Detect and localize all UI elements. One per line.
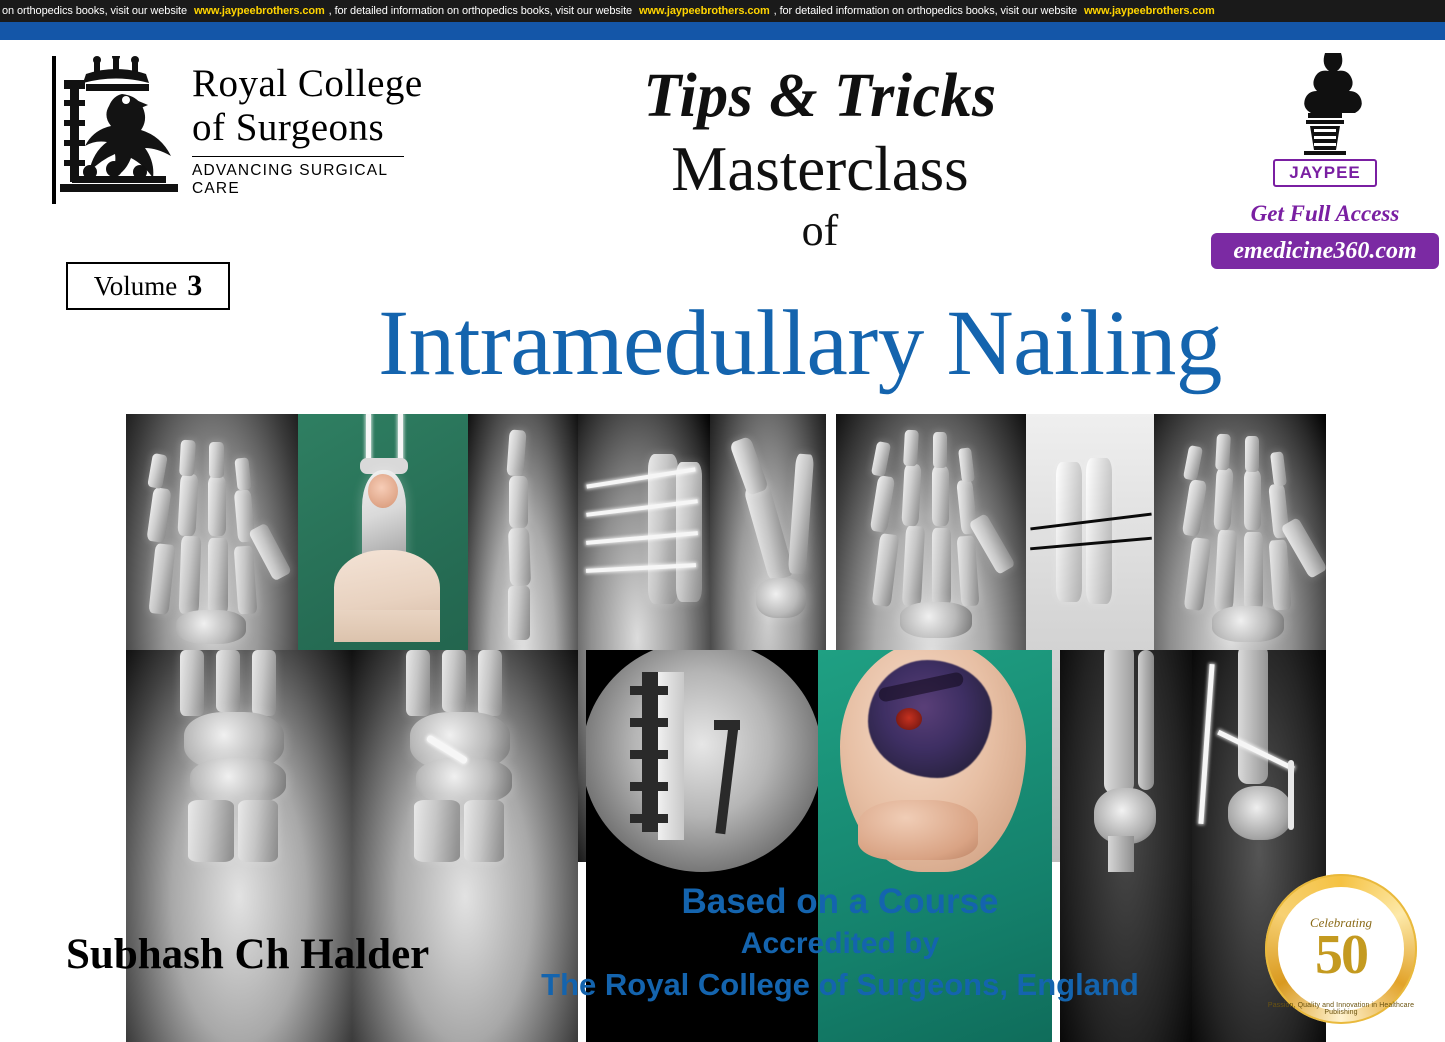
seal-inner: Celebrating 50 (1278, 887, 1404, 1011)
image-collage (126, 414, 1326, 862)
seal-tagline: Passion, Quality and Innovation in Healt… (1265, 1002, 1417, 1016)
promo-url-2[interactable]: www.jaypeebrothers.com (637, 5, 772, 17)
promo-strip: on orthopedics books, visit our website … (0, 0, 1445, 22)
title-of: of (460, 206, 1180, 256)
title-block: Tips & Tricks Masterclass of (460, 62, 1180, 256)
rcs-divider (192, 156, 404, 157)
rcs-line-2: of Surgeons (192, 106, 432, 150)
title-tips-tricks: Tips & Tricks (460, 62, 1180, 130)
emedicine-link[interactable]: emedicine360.com (1211, 233, 1439, 269)
anniversary-seal-icon: Celebrating 50 Passion, Quality and Inno… (1265, 874, 1417, 1024)
book-cover: on orthopedics books, visit our website … (0, 0, 1445, 1042)
rcs-tagline: ADVANCING SURGICAL CARE (192, 162, 432, 198)
author-name: Subhash Ch Halder (66, 930, 429, 979)
course-line-3: The Royal College of Surgeons, England (470, 964, 1210, 1006)
promo-url-1[interactable]: www.jaypeebrothers.com (192, 5, 327, 17)
promo-text-2: , for detailed information on orthopedic… (327, 5, 637, 17)
course-line-1: Based on a Course (470, 880, 1210, 924)
jaypee-branding: JAYPEE Get Full Access emedicine360.com (1225, 50, 1425, 269)
heraldic-crest-icon (52, 56, 182, 204)
page-title: Intramedullary Nailing (180, 292, 1420, 396)
wrist-xray-preop (126, 650, 352, 1042)
royal-college-logo: Royal College of Surgeons ADVANCING SURG… (52, 55, 432, 205)
jaypee-flame-icon (1225, 50, 1425, 155)
volume-label: Volume (94, 271, 178, 302)
header-blue-bar (0, 22, 1445, 40)
jaypee-badge: JAYPEE (1273, 159, 1377, 187)
course-accreditation: Based on a Course Accredited by The Roya… (470, 880, 1210, 1006)
promo-text-1: on orthopedics books, visit our website (0, 5, 192, 17)
rcs-line-1: Royal College (192, 62, 432, 106)
course-line-2: Accredited by (470, 924, 1210, 964)
title-masterclass: Masterclass (460, 132, 1180, 206)
promo-url-3[interactable]: www.jaypeebrothers.com (1082, 5, 1217, 17)
seal-years: 50 (1315, 927, 1367, 983)
promo-text-3: , for detailed information on orthopedic… (772, 5, 1082, 17)
get-full-access-label: Get Full Access (1225, 201, 1425, 227)
